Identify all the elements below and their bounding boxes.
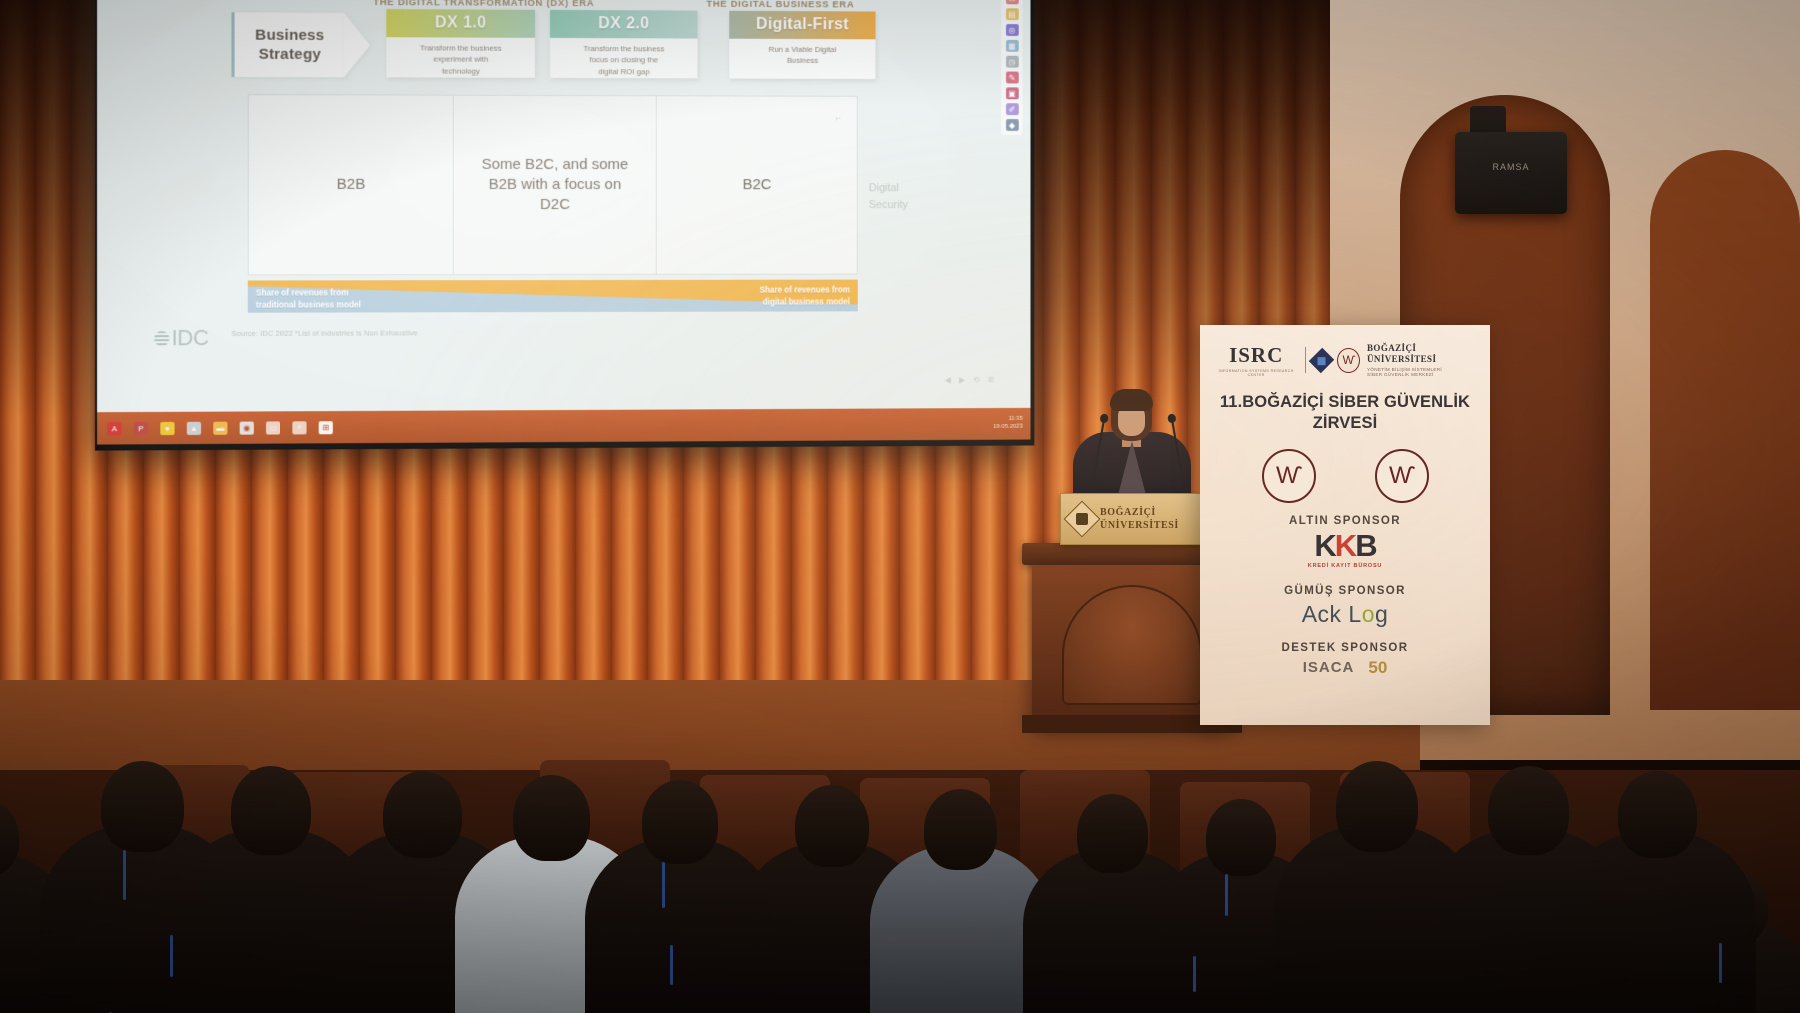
conference-hall-scene: RAMSA THE DIGITAL TRANSFORMATION (DX) ER… <box>0 0 1800 1013</box>
audience-member-head <box>231 766 312 855</box>
projection-screen: THE DIGITAL TRANSFORMATION (DX) ERA THE … <box>97 0 1030 445</box>
attendee-lanyard <box>670 945 673 985</box>
kkb-logo-subtitle: KREDİ KAYIT BÜROSU <box>1214 563 1476 569</box>
audience-member-head <box>795 785 869 867</box>
crest-icon-right: Ⱳ <box>1375 449 1429 503</box>
banner-logo-row: ISRC INFORMATION SYSTEMS RESEARCH CENTER… <box>1214 343 1476 378</box>
phase-desc-digital-first: Run a Viable Digital Business <box>729 39 875 67</box>
audience-member-head <box>1618 771 1697 858</box>
bogazici-seal-icon: Ⱳ <box>1337 348 1360 373</box>
attendee-lanyard <box>123 850 126 900</box>
matrix-label-b2c: B2C <box>743 175 772 195</box>
clock-icon[interactable]: ◷ <box>1006 56 1019 68</box>
pdf-icon[interactable]: ▣ <box>1006 87 1019 99</box>
chat-icon[interactable]: ✉ <box>1006 0 1019 4</box>
file-explorer-icon[interactable]: ▬ <box>213 421 227 434</box>
phase-title-dx2: DX 2.0 <box>550 10 698 39</box>
windows-taskbar[interactable]: AP●▲▬◉▭⌕⊞ 11:35 19.05.2023 <box>97 408 1030 445</box>
revenue-share-bar: Share of revenues from traditional busin… <box>248 280 858 313</box>
search-icon[interactable]: ⌕ <box>292 421 306 434</box>
audience-member-body <box>1023 849 1202 1013</box>
university-name-block: BOĞAZİÇİ ÜNİVERSİTESİ YÖNETİM BİLİŞİM Sİ… <box>1367 343 1476 378</box>
audience-member-body <box>585 838 775 1013</box>
attendee-lanyard <box>662 862 665 908</box>
eraser-icon[interactable]: ◆ <box>1006 119 1019 131</box>
podium-nameplate: BOĞAZİÇİ ÜNİVERSİTESİ <box>1060 493 1202 545</box>
business-strategy-arrow-icon <box>344 13 370 77</box>
attendee-lanyard <box>1193 956 1196 992</box>
diamond-logo-icon <box>1309 348 1335 374</box>
notes-icon[interactable]: ▤ <box>1006 8 1019 20</box>
powerpoint-icon[interactable]: P <box>134 422 148 435</box>
banner-divider <box>1305 347 1306 373</box>
business-strategy-label: Business Strategy <box>255 25 324 65</box>
matrix-label-b2b: B2B <box>337 175 366 195</box>
matrix-cell-mixed: Some B2C, and some B2B with a focus on D… <box>454 96 657 274</box>
audience-member-body <box>1428 828 1629 1013</box>
business-strategy-box: Business Strategy <box>232 12 345 77</box>
phase-card-dx1: DX 1.0 Transform the business experiment… <box>386 9 535 78</box>
store-icon[interactable]: ▲ <box>187 421 201 434</box>
floating-app-dock[interactable]: ✉▤◎▦◷✎▣✐◆ <box>1001 0 1023 135</box>
audience-member-head <box>642 780 718 864</box>
audience-member-head <box>1336 761 1418 852</box>
phase-card-dx2: DX 2.0 Transform the business focus on c… <box>550 10 698 79</box>
matrix-tick-mark: ⌐ <box>836 113 841 123</box>
audience-member-head <box>1206 799 1276 876</box>
audience-member-head <box>1488 766 1569 855</box>
matrix-label-mixed: Some B2C, and some B2B with a focus on D… <box>482 154 629 215</box>
idc-wordmark: IDC <box>172 325 209 351</box>
attendee-lanyard <box>1719 943 1722 983</box>
phase-title-dx1: DX 1.0 <box>386 9 535 38</box>
podium-sign-line2: ÜNİVERSİTESİ <box>1100 519 1179 532</box>
highlighter-icon[interactable]: ✐ <box>1006 103 1019 115</box>
isrc-logo: ISRC <box>1214 343 1298 368</box>
start-button[interactable]: ⊞ <box>319 421 333 434</box>
kkb-logo: KKB <box>1214 531 1476 560</box>
attendee-lanyard <box>170 935 173 978</box>
pa-speaker: RAMSA <box>1455 132 1567 214</box>
speaker-brand-label: RAMSA <box>1455 162 1567 172</box>
matrix-cell-b2c: ⌐ B2C Digital Security <box>657 96 857 274</box>
banner-crest-row: Ⱳ Ⱳ <box>1232 449 1458 503</box>
revenue-digital-label: Share of revenues from digital business … <box>760 285 850 309</box>
slide-source-note: Source: IDC 2022 *List of industries is … <box>232 328 418 338</box>
sponsor-tier-gold: ALTIN SPONSOR <box>1214 515 1476 527</box>
matrix-ghost-digital-security: Digital Security <box>869 180 908 213</box>
task-view-icon[interactable]: ▭ <box>266 421 280 434</box>
media-icon[interactable]: ● <box>160 421 174 434</box>
pen-icon[interactable]: ✎ <box>1006 72 1019 84</box>
university-crest-icon <box>1064 501 1101 538</box>
calendar-icon[interactable]: ▦ <box>1006 40 1019 52</box>
audience-silhouettes <box>0 583 1800 1013</box>
powerpoint-slide: THE DIGITAL TRANSFORMATION (DX) ERA THE … <box>97 0 1030 412</box>
speaker-hair-front <box>1110 389 1153 411</box>
audience-member-body <box>171 828 372 1013</box>
university-name-line2: YÖNETİM BİLİŞİM SİSTEMLERİ SİBER GÜVENLİ… <box>1367 367 1476 378</box>
crest-icon-left: Ⱳ <box>1262 449 1316 503</box>
audience-member-head <box>383 771 462 858</box>
audience-member-head <box>924 789 997 870</box>
attendee-lanyard <box>1225 874 1228 916</box>
event-title: 11.BOĞAZİÇİ SİBER GÜVENLİK ZİRVESİ <box>1214 392 1476 433</box>
chrome-icon[interactable]: ◉ <box>240 421 254 434</box>
taskbar-clock[interactable]: 11:35 19.05.2023 <box>993 415 1022 432</box>
era-label-dx: THE DIGITAL TRANSFORMATION (DX) ERA <box>373 0 594 9</box>
acrobat-icon[interactable]: A <box>107 422 121 435</box>
phase-card-digital-first: Digital-First Run a Viable Digital Busin… <box>729 11 875 79</box>
matrix-cell-b2b: B2B <box>249 95 454 274</box>
audience-member-head <box>101 761 183 852</box>
teams-icon[interactable]: ◎ <box>1006 24 1019 36</box>
podium-sign-line1: BOĞAZİÇİ <box>1100 506 1179 519</box>
phase-title-digital-first: Digital-First <box>729 11 875 40</box>
revenue-traditional-label: Share of revenues from traditional busin… <box>256 287 361 311</box>
audience-member-head <box>513 775 591 861</box>
phase-desc-dx2: Transform the business focus on closing … <box>550 38 698 77</box>
era-label-digital-business: THE DIGITAL BUSINESS ERA <box>706 0 854 10</box>
slide-navigation-controls[interactable]: ◀ ▶ ⟲ ⊞ <box>945 375 997 384</box>
market-model-matrix: B2B Some B2C, and some B2B with a focus … <box>248 94 858 275</box>
university-name-line1: BOĞAZİÇİ ÜNİVERSİTESİ <box>1367 343 1476 366</box>
phase-desc-dx1: Transform the business experiment with t… <box>386 37 535 77</box>
idc-globe-icon <box>154 331 169 346</box>
audience-member-head <box>1077 794 1148 873</box>
isrc-logo-subtitle: INFORMATION SYSTEMS RESEARCH CENTER <box>1214 369 1298 377</box>
idc-logo: IDC <box>154 325 208 351</box>
